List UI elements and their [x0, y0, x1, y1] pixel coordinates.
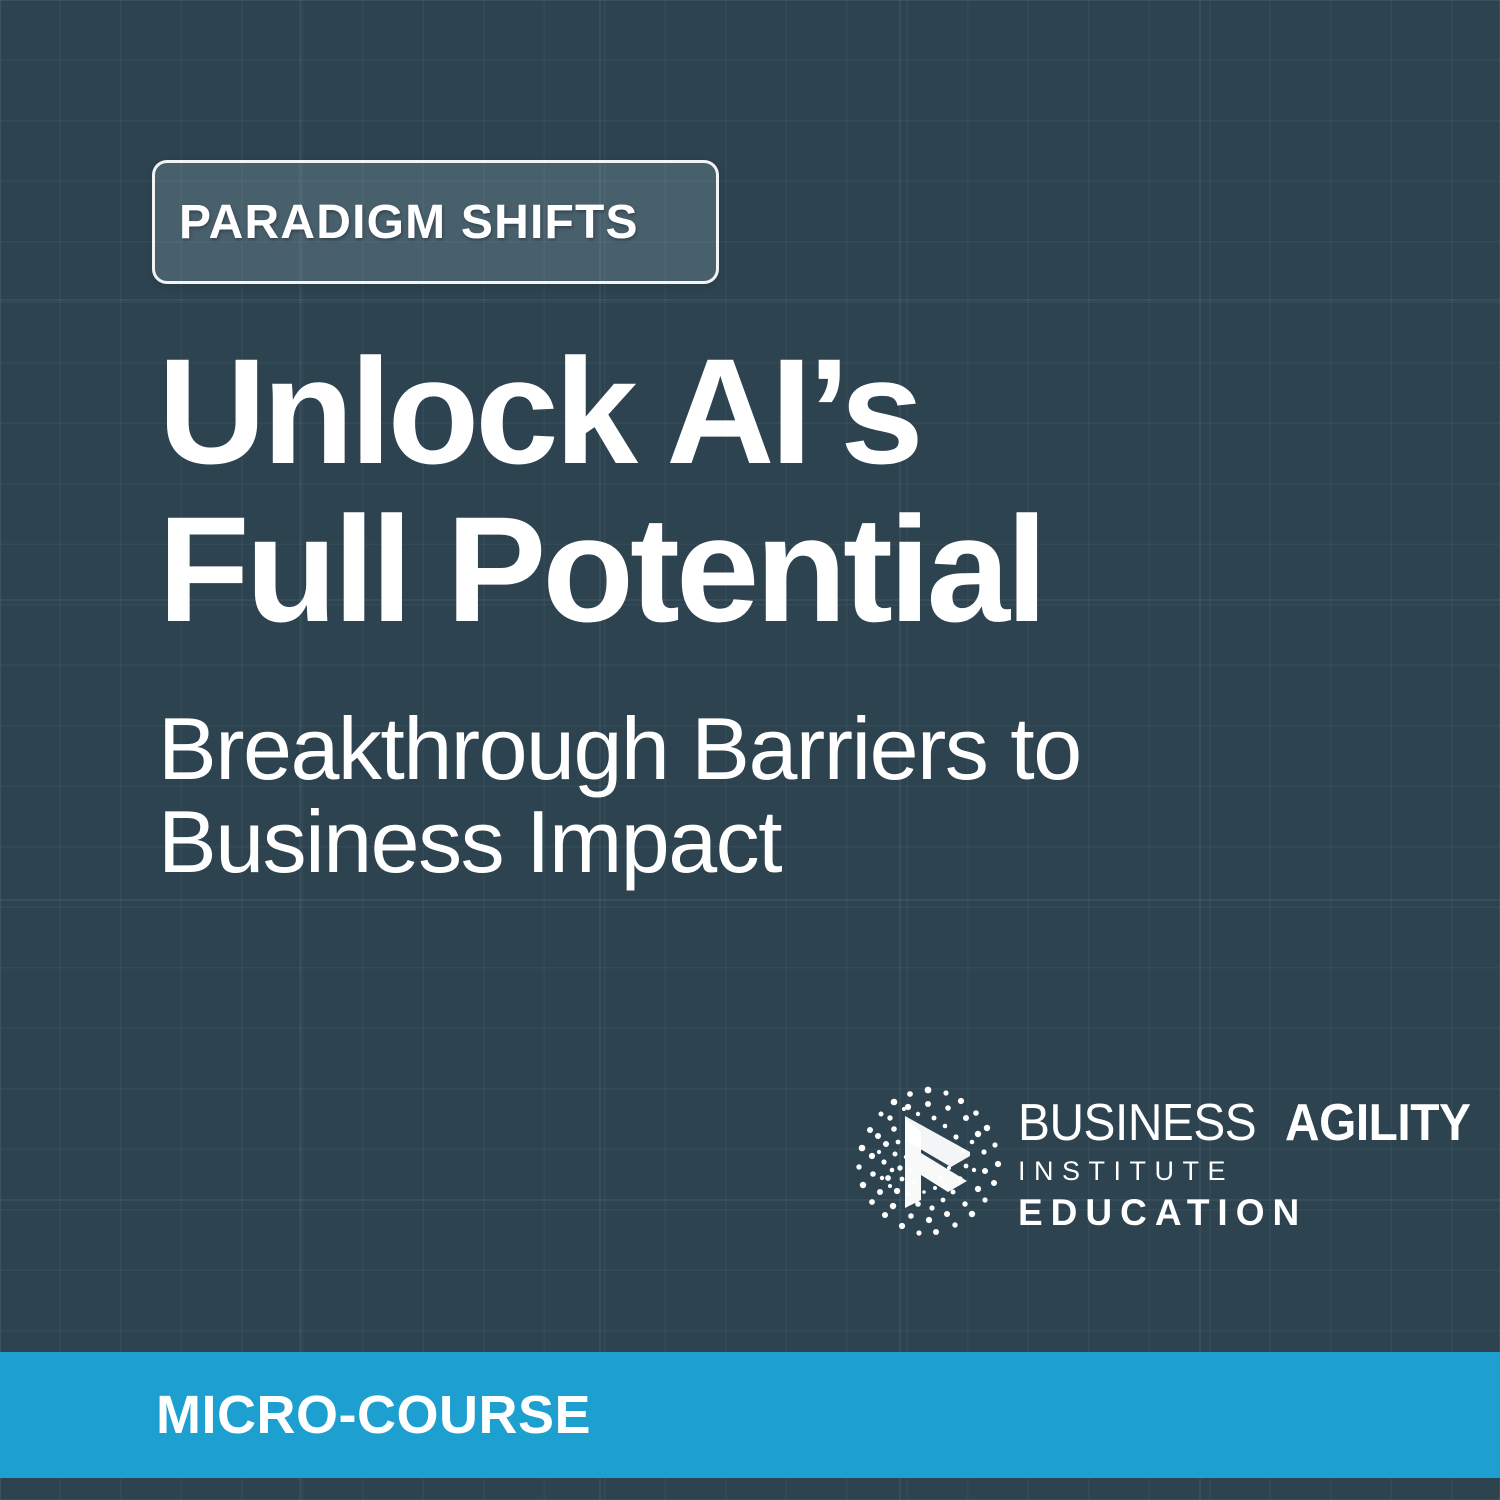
brand-word-agility: AGILITY: [1285, 1097, 1470, 1149]
course-type-bar: MICRO-COURSE: [0, 1352, 1500, 1478]
brand-word-institute: INSTITUTE: [1018, 1158, 1487, 1185]
brand-logo: BUSINESSAGILITY INSTITUTE EDUCATION: [848, 1078, 1368, 1246]
page-subtitle: Breakthrough Barriers to Business Impact: [158, 702, 1358, 888]
subtitle-line-2: Business Impact: [158, 795, 1358, 888]
category-badge-label: PARADIGM SHIFTS: [155, 195, 639, 250]
subtitle-line-1: Breakthrough Barriers to: [158, 702, 1358, 795]
bottom-grid-strip: [0, 1478, 1500, 1500]
brand-word-business: BUSINESS: [1018, 1097, 1256, 1149]
headline-line-1: Unlock AI’s: [158, 332, 1358, 490]
course-promo-card: PARADIGM SHIFTS Unlock AI’s Full Potenti…: [0, 0, 1500, 1500]
course-type-label: MICRO-COURSE: [0, 1384, 591, 1446]
category-badge[interactable]: PARADIGM SHIFTS: [152, 160, 719, 284]
brand-wordmark-primary-line: BUSINESSAGILITY: [1018, 1097, 1487, 1149]
page-title: Unlock AI’s Full Potential: [158, 332, 1358, 648]
business-agility-dot-chevron-icon: [848, 1082, 1008, 1242]
brand-word-education: EDUCATION: [1018, 1194, 1487, 1231]
brand-wordmark: BUSINESSAGILITY INSTITUTE EDUCATION: [1018, 1093, 1487, 1231]
headline-line-2: Full Potential: [158, 490, 1358, 648]
